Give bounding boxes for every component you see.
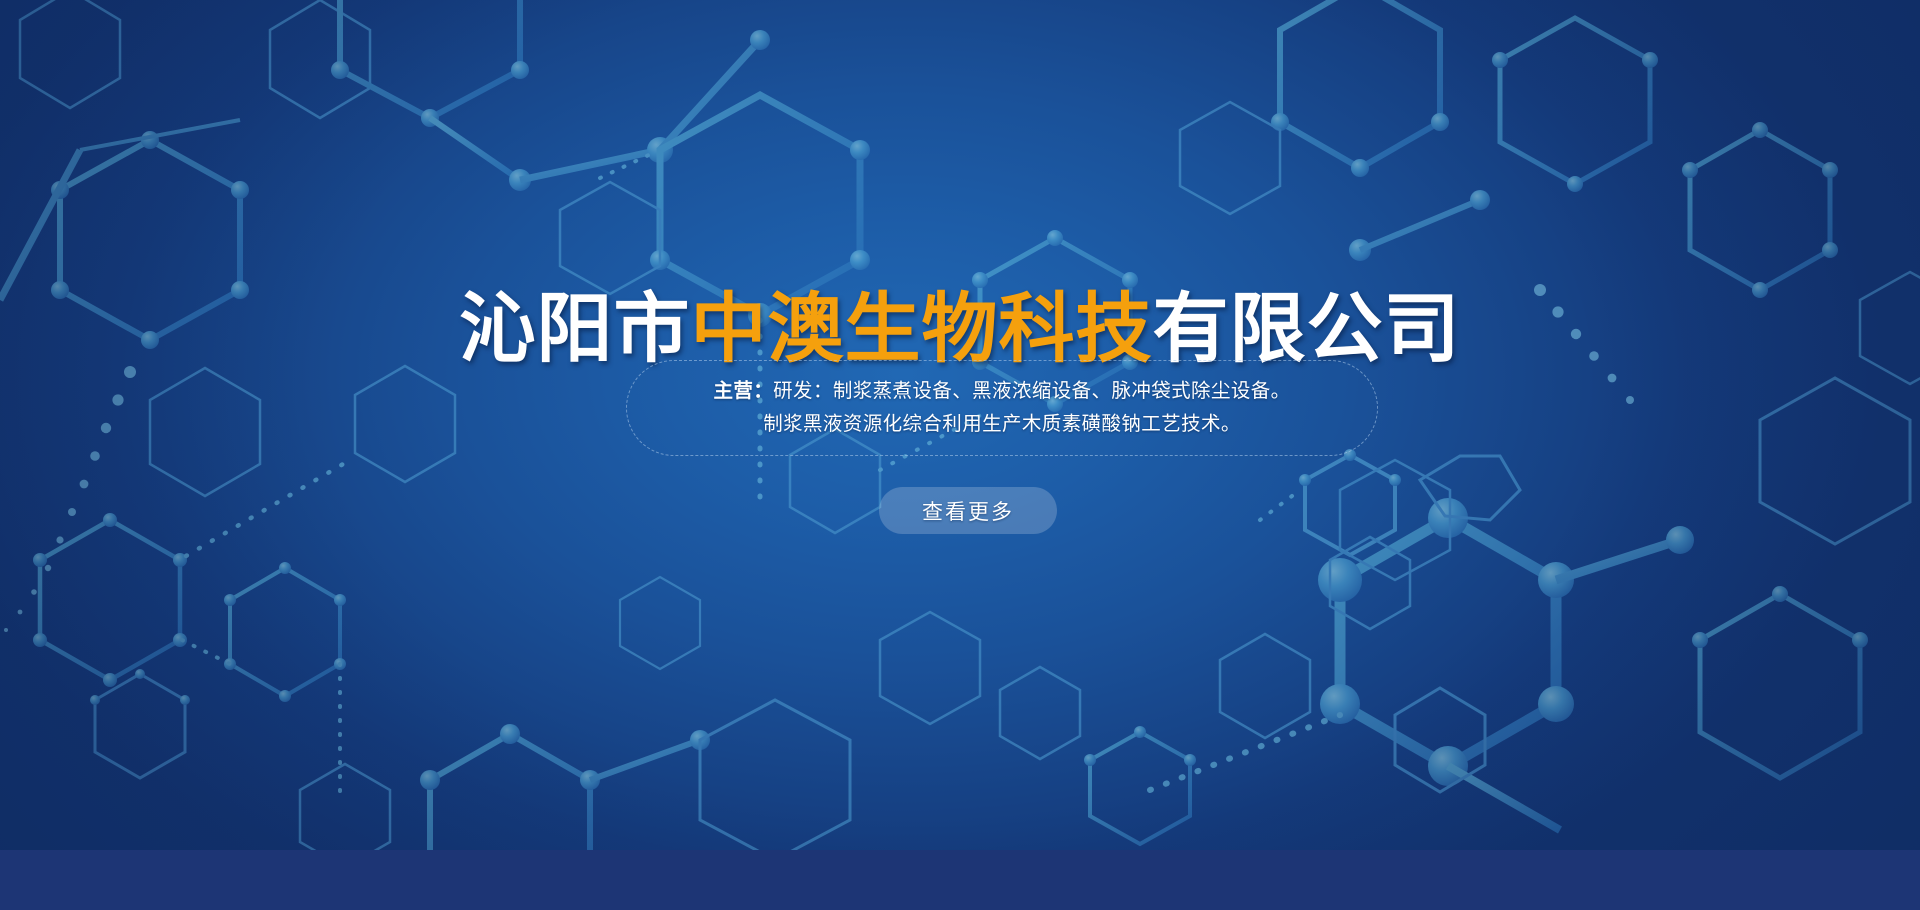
subtitle-line-2: 制浆黑液资源化综合利用生产木质素磺酸钠工艺技术。 — [763, 408, 1241, 441]
subtitle-lead-label: 主营： — [713, 380, 773, 402]
page-root: 沁阳市中澳生物科技有限公司 主营：研发：制浆蒸煮设备、黑液浓缩设备、脉冲袋式除尘… — [0, 0, 1920, 910]
title-prefix: 沁阳市 — [460, 287, 691, 372]
subtitle-line-1: 主营：研发：制浆蒸煮设备、黑液浓缩设备、脉冲袋式除尘设备。 — [713, 375, 1290, 408]
hero-banner: 沁阳市中澳生物科技有限公司 主营：研发：制浆蒸煮设备、黑液浓缩设备、脉冲袋式除尘… — [0, 0, 1920, 850]
hero-content: 沁阳市中澳生物科技有限公司 主营：研发：制浆蒸煮设备、黑液浓缩设备、脉冲袋式除尘… — [0, 0, 1920, 850]
bottom-bar — [0, 850, 1920, 910]
subtitle-line-1-text: 研发：制浆蒸煮设备、黑液浓缩设备、脉冲袋式除尘设备。 — [773, 380, 1290, 402]
view-more-button[interactable]: 查看更多 — [879, 487, 1057, 534]
subtitle-box: 主营：研发：制浆蒸煮设备、黑液浓缩设备、脉冲袋式除尘设备。 制浆黑液资源化综合利… — [626, 360, 1378, 456]
